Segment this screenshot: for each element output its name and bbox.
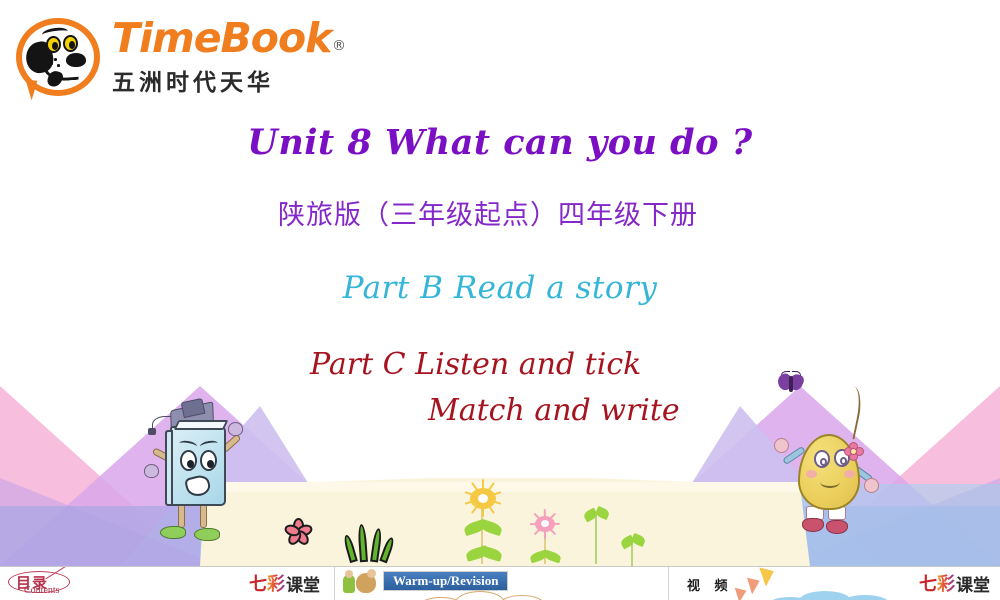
warmup-revision-badge[interactable]: Warm-up/Revision	[383, 571, 508, 591]
part-c-heading: Part C Listen and tick Match and write	[310, 342, 730, 433]
qicai-char-1: 七	[249, 570, 266, 596]
dog-speech-bubble-icon	[14, 16, 104, 102]
thumbnail-slide-1[interactable]: 目录 Contents 七 彩 课堂	[0, 567, 334, 600]
pink-flower-icon	[283, 516, 313, 546]
subtitle-cn: 陕旅版（三年级起点）四年级下册	[278, 198, 758, 234]
page-title: Unit 8 What can you do ?	[0, 122, 1000, 163]
thumbnail-slide-3[interactable]: 视 频 七 彩 课堂	[669, 567, 1000, 600]
brand-logo: TimeBook ® 五洲时代天华	[14, 10, 344, 105]
contents-label-en: Contents	[24, 585, 60, 596]
video-label: 视 频	[687, 575, 733, 594]
grass-icon	[348, 520, 392, 562]
qicai-brand-left: 七 彩 课堂	[249, 572, 320, 594]
qicai-char-2: 彩	[267, 570, 285, 596]
slide-canvas[interactable]: TimeBook ® 五洲时代天华 Unit 8 What can you do…	[0, 0, 1000, 566]
pear-mascot	[790, 386, 880, 554]
part-b-heading: Part B Read a story	[0, 270, 1000, 306]
qicai-char-1: 七	[919, 570, 936, 596]
slide-viewer: TimeBook ® 五洲时代天华 Unit 8 What can you do…	[0, 0, 1000, 600]
pink-flower-small-icon	[528, 508, 564, 564]
blue-cloud-decoration	[769, 589, 889, 600]
yellow-flower-icon	[460, 478, 506, 564]
qicai-char-3: 课堂	[286, 571, 320, 596]
qicai-brand-right: 七 彩 课堂	[919, 572, 990, 594]
registered-mark-icon: ®	[332, 38, 346, 54]
cloud-outline-decoration	[419, 591, 579, 600]
kids-walking-icon	[343, 571, 377, 595]
qicai-char-2: 彩	[937, 570, 955, 596]
contents-button[interactable]: 目录 Contents	[8, 569, 78, 597]
qicai-char-3: 课堂	[956, 571, 990, 596]
book-mascot	[148, 406, 252, 554]
brand-name-en: TimeBook	[112, 18, 344, 59]
sprout-icon	[588, 506, 610, 564]
slide-thumbnail-strip[interactable]: 目录 Contents 七 彩 课堂 Warm-up/Revision 视 频	[0, 566, 1000, 600]
part-c-line-2: Match and write	[310, 388, 730, 434]
thumbnail-slide-2[interactable]: Warm-up/Revision	[335, 567, 668, 600]
sprout-icon	[624, 534, 646, 566]
brand-name-cn: 五洲时代天华	[112, 63, 344, 97]
butterfly-icon	[776, 372, 806, 396]
part-c-line-1: Part C Listen and tick	[310, 347, 641, 382]
